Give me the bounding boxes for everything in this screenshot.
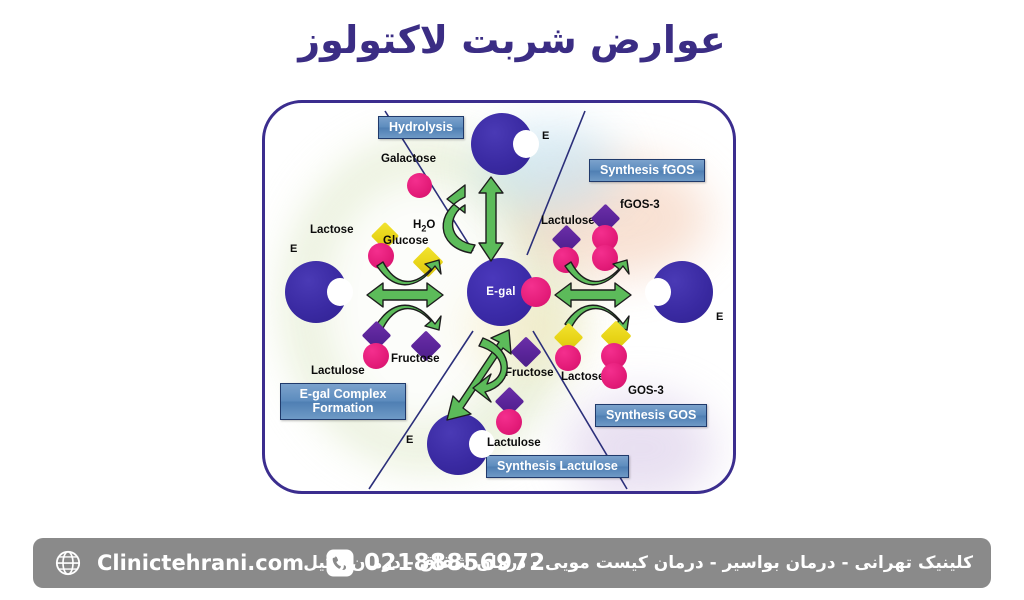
gos3-galactose-2 [601, 363, 627, 389]
section-label-egal-complex: E-gal Complex Formation [280, 383, 406, 420]
footer-bar: Clinictehrani.com 02188856972 کلینیک تهر… [33, 538, 991, 588]
enzyme-top-notch [513, 130, 539, 158]
globe-icon [55, 550, 81, 576]
enzyme-left-notch [327, 278, 353, 306]
enzyme-left-label: E [290, 243, 297, 255]
section-label-egal-complex-line2: Formation [285, 401, 401, 415]
enzyme-bottom-label: E [406, 434, 413, 446]
arrows-synthesis-gos [553, 260, 633, 330]
page-title: عوارض شربت لاکتولوز [0, 18, 1024, 62]
egal-center-label: E-gal [486, 286, 516, 298]
section-label-synthesis-gos: Synthesis GOS [595, 404, 707, 427]
section-label-egal-complex-line1: E-gal Complex [285, 387, 401, 401]
enzyme-left [285, 261, 347, 323]
label-lactose-gos: Lactose [561, 371, 604, 383]
label-glucose-left: Glucose [383, 235, 428, 247]
label-lactose-left: Lactose [310, 224, 353, 236]
section-label-hydrolysis: Hydrolysis [378, 116, 464, 139]
section-label-hydrolysis-text: Hydrolysis [389, 120, 453, 134]
lactulose-left-galactose [363, 343, 389, 369]
arrows-egal-complex [365, 260, 445, 330]
lactose-gos-galactose [555, 345, 581, 371]
enzyme-top [471, 113, 533, 175]
footer-services-text: کلینیک تهرانی - درمان بواسیر - درمان کیس… [303, 553, 973, 573]
label-galactose-top: Galactose [381, 153, 436, 165]
diagram-frame: E-gal Hydrolysis E Galactose H2O [262, 100, 736, 494]
label-lactulose-bottom: Lactulose [487, 437, 541, 449]
footer-website[interactable]: Clinictehrani.com [97, 551, 304, 575]
enzyme-right-notch [645, 278, 671, 306]
section-label-synthesis-lactulose-text: Synthesis Lactulose [497, 459, 618, 473]
arrows-synthesis-lactulose [445, 328, 535, 423]
section-label-synthesis-lactulose: Synthesis Lactulose [486, 455, 629, 478]
section-label-synthesis-fgos: Synthesis fGOS [589, 159, 705, 182]
section-label-synthesis-fgos-text: Synthesis fGOS [600, 163, 694, 177]
label-fructose-left: Fructose [391, 353, 440, 365]
egal-center-galactose [521, 277, 551, 307]
reaction-diagram: E-gal Hydrolysis E Galactose H2O [262, 100, 736, 494]
arrows-hydrolysis [425, 175, 515, 265]
label-gos3: GOS-3 [628, 385, 664, 397]
enzyme-right [651, 261, 713, 323]
section-label-synthesis-gos-text: Synthesis GOS [606, 408, 696, 422]
enzyme-right-label: E [716, 311, 723, 323]
label-lactulose-left: Lactulose [311, 365, 365, 377]
label-fgos3: fGOS-3 [620, 199, 660, 211]
enzyme-top-label: E [542, 130, 549, 142]
